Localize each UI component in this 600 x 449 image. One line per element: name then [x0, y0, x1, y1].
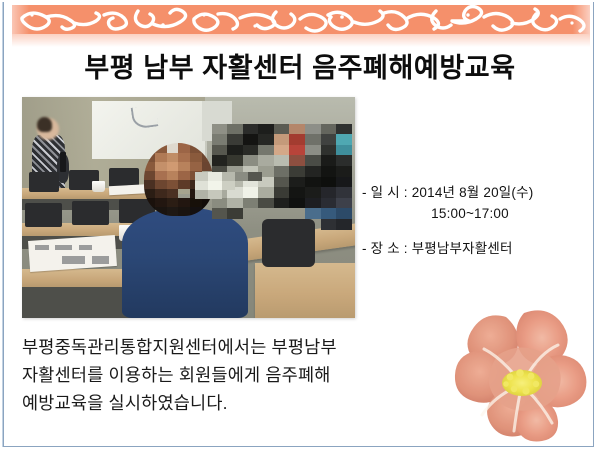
- photo-chair: [72, 201, 109, 225]
- event-place: - 장 소 : 부평남부자활센터: [362, 237, 592, 257]
- photo-microphone: [60, 152, 67, 172]
- photo-booklet-detail: [55, 245, 72, 250]
- photo-presenter-hair: [37, 117, 52, 132]
- description-line-1: 부평중독관리통합지원센터에서는 부평남부: [22, 333, 442, 361]
- photo-pixelated-face-secondary: [195, 172, 262, 216]
- photo-content: [22, 97, 355, 318]
- photo-chair: [29, 172, 59, 192]
- slide-title: 부평 남부 자활센터 음주폐해예방교육: [0, 46, 600, 85]
- event-details: - 일 시 : 2014년 8월 20일(수) 15:00~17:00: [362, 183, 592, 224]
- flower-decoration: [452, 303, 590, 443]
- event-photo: [22, 97, 355, 318]
- photo-booklet-detail: [92, 256, 109, 264]
- photo-booklet: [28, 235, 117, 272]
- presentation-slide: 부평 남부 자활센터 음주폐해예방교육: [0, 0, 600, 449]
- event-date: - 일 시 : 2014년 8월 20일(수): [362, 183, 592, 203]
- photo-booklet-detail: [35, 245, 48, 250]
- event-description: 부평중독관리통합지원센터에서는 부평남부 자활센터를 이용하는 회원들에게 음주…: [22, 333, 442, 417]
- doodle-pattern-icon: [12, 5, 590, 34]
- photo-cup: [92, 181, 105, 192]
- photo-booklet-detail: [62, 256, 85, 264]
- event-time: 15:00~17:00: [362, 203, 592, 224]
- photo-chair: [25, 203, 62, 227]
- header-decoration: [4, 0, 593, 48]
- description-line-3: 예방교육을 실시하였습니다.: [22, 389, 442, 417]
- flower-icon: [452, 303, 590, 443]
- photo-booklet-detail: [79, 245, 92, 250]
- slide-frame-bottom: [3, 446, 594, 447]
- description-line-2: 자활센터를 이용하는 회원들에게 음주폐해: [22, 361, 442, 389]
- photo-desk-front: [255, 263, 355, 318]
